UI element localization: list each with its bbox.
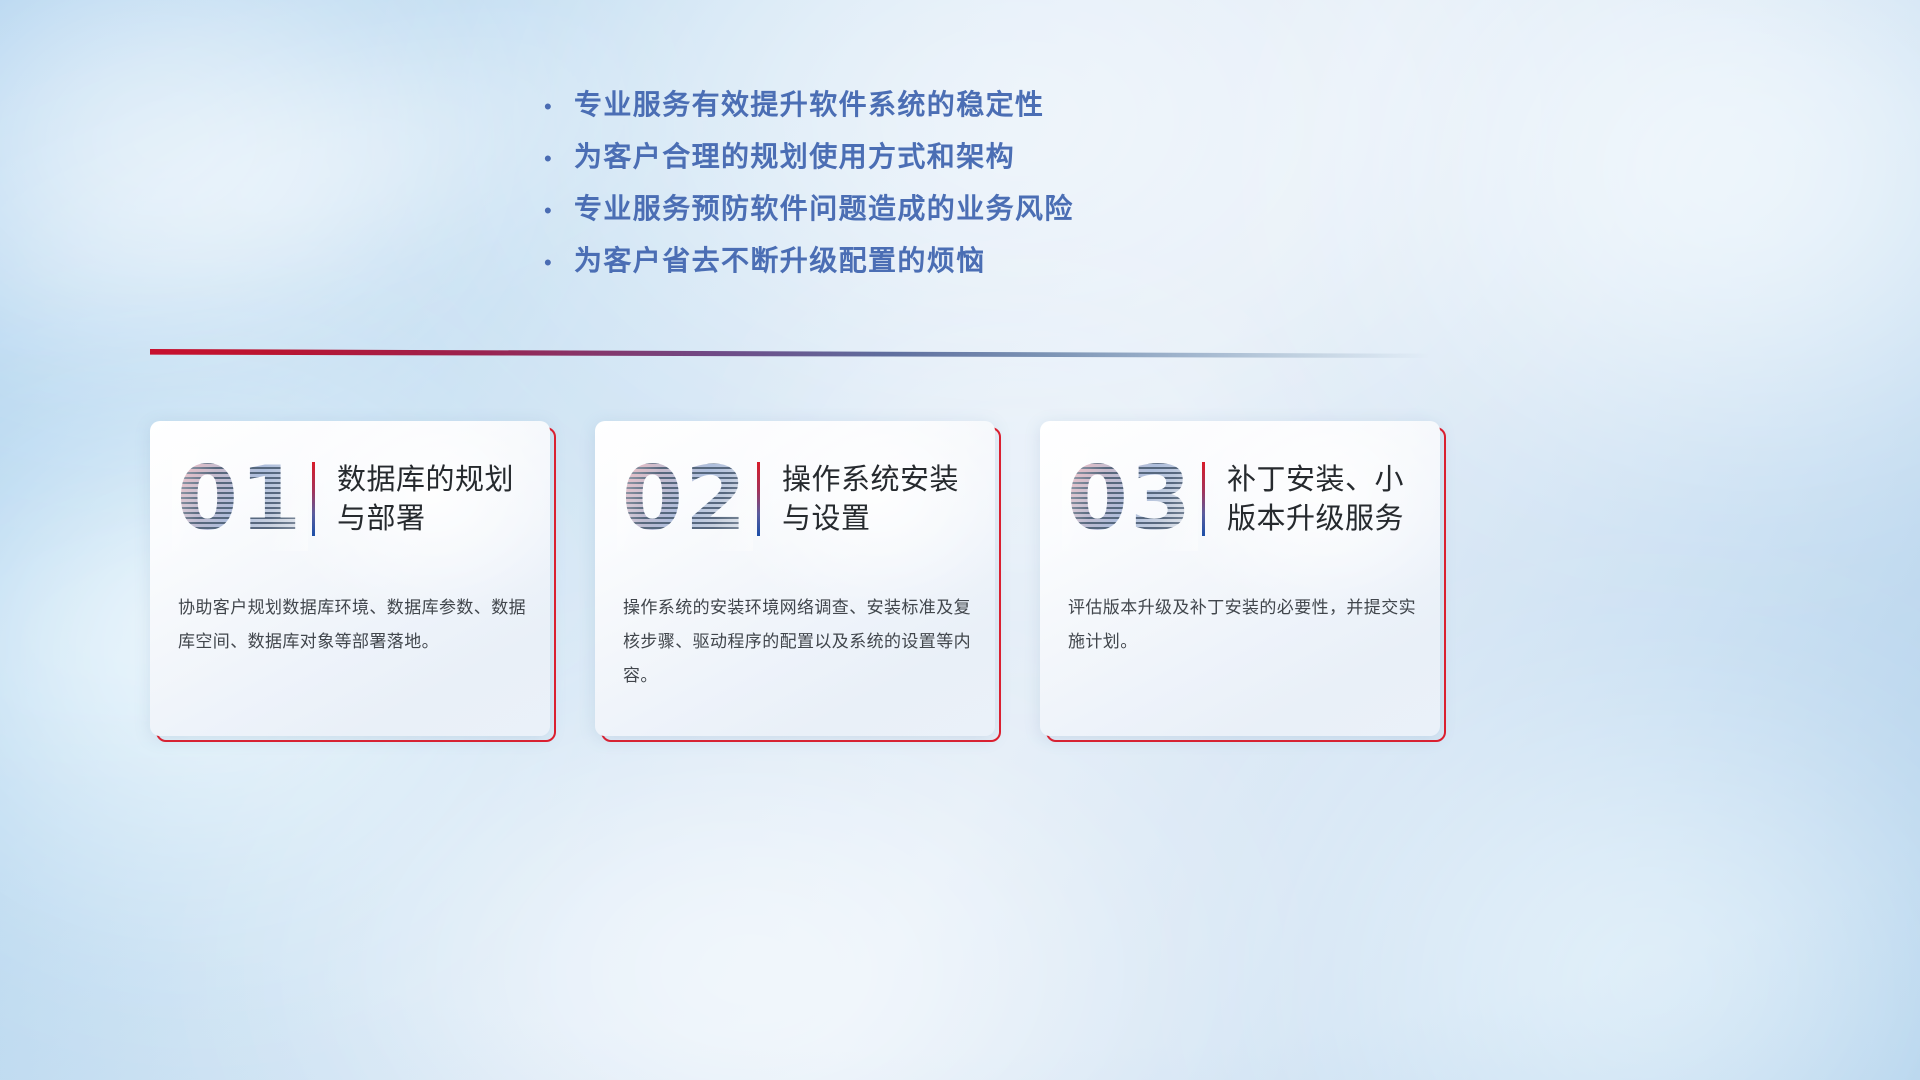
benefits-bullet-list: • 专业服务有效提升软件系统的稳定性 • 为客户合理的规划使用方式和架构 • 专… bbox=[540, 90, 1440, 298]
card-body-text: 协助客户规划数据库环境、数据库参数、数据库空间、数据库对象等部署落地。 bbox=[178, 591, 526, 659]
list-item: • 为客户省去不断升级配置的烦恼 bbox=[540, 246, 1440, 298]
card-body-text: 操作系统的安装环境网络调查、安装标准及复核步骤、驱动程序的配置以及系统的设置等内… bbox=[623, 591, 971, 693]
bullet-text: 为客户省去不断升级配置的烦恼 bbox=[574, 246, 986, 277]
card-title: 数据库的规划与部署 bbox=[337, 460, 533, 539]
card-body-text: 评估版本升级及补丁安装的必要性，并提交实施计划。 bbox=[1068, 591, 1416, 659]
card-number-watermark: 01 bbox=[172, 447, 308, 551]
list-item: • 专业服务有效提升软件系统的稳定性 bbox=[540, 90, 1440, 142]
service-card[interactable]: 01 数据库的规划与部署 协助客户规划数据库环境、数据库参数、数据库空间、数据库… bbox=[150, 421, 550, 736]
card-number: 02 bbox=[617, 447, 753, 551]
card-surface: 01 数据库的规划与部署 协助客户规划数据库环境、数据库参数、数据库空间、数据库… bbox=[150, 421, 550, 736]
bullet-marker-icon: • bbox=[540, 96, 574, 118]
card-divider-bar bbox=[312, 462, 315, 536]
card-surface: 02 操作系统安装与设置 操作系统的安装环境网络调查、安装标准及复核步骤、驱动程… bbox=[595, 421, 995, 736]
bullet-marker-icon: • bbox=[540, 148, 574, 170]
card-title: 操作系统安装与设置 bbox=[782, 460, 978, 539]
service-card-row: 01 数据库的规划与部署 协助客户规划数据库环境、数据库参数、数据库空间、数据库… bbox=[150, 421, 1440, 736]
bullet-marker-icon: • bbox=[540, 252, 574, 274]
card-divider-bar bbox=[757, 462, 760, 536]
bullet-text: 专业服务预防软件问题造成的业务风险 bbox=[574, 194, 1074, 225]
bullet-text: 为客户合理的规划使用方式和架构 bbox=[574, 142, 1015, 173]
card-number: 01 bbox=[172, 447, 308, 551]
card-title: 补丁安装、小版本升级服务 bbox=[1227, 460, 1423, 539]
card-surface: 03 补丁安装、小版本升级服务 评估版本升级及补丁安装的必要性，并提交实施计划。 bbox=[1040, 421, 1440, 736]
card-header: 03 补丁安装、小版本升级服务 bbox=[1040, 447, 1440, 551]
bullet-text: 专业服务有效提升软件系统的稳定性 bbox=[574, 90, 1044, 121]
service-card[interactable]: 02 操作系统安装与设置 操作系统的安装环境网络调查、安装标准及复核步骤、驱动程… bbox=[595, 421, 995, 736]
service-card[interactable]: 03 补丁安装、小版本升级服务 评估版本升级及补丁安装的必要性，并提交实施计划。 bbox=[1040, 421, 1440, 736]
list-item: • 为客户合理的规划使用方式和架构 bbox=[540, 142, 1440, 194]
card-header: 01 数据库的规划与部署 bbox=[150, 447, 550, 551]
bullet-marker-icon: • bbox=[540, 200, 574, 222]
card-number-watermark: 02 bbox=[617, 447, 753, 551]
list-item: • 专业服务预防软件问题造成的业务风险 bbox=[540, 194, 1440, 246]
divider-gradient-rule bbox=[150, 349, 1430, 358]
card-header: 02 操作系统安装与设置 bbox=[595, 447, 995, 551]
card-divider-bar bbox=[1202, 462, 1205, 536]
card-number: 03 bbox=[1062, 447, 1198, 551]
section-divider bbox=[150, 349, 1430, 358]
card-number-watermark: 03 bbox=[1062, 447, 1198, 551]
